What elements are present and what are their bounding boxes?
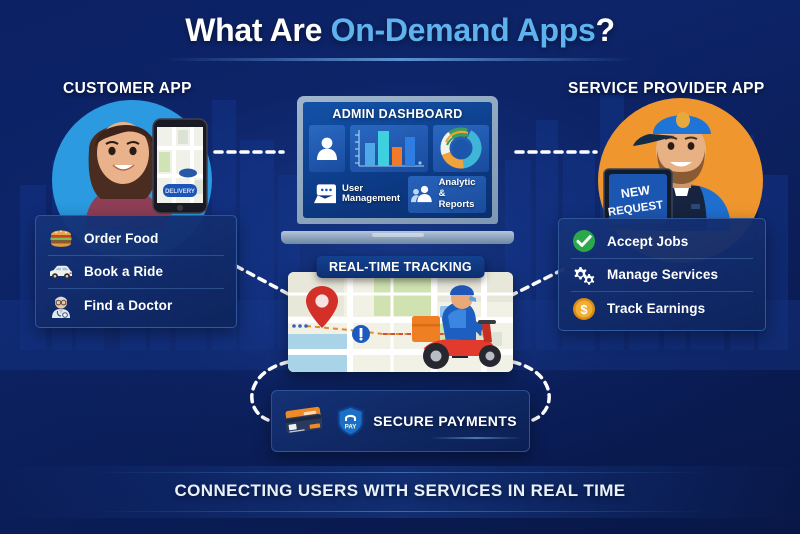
laptop-screen: ADMIN DASHBOARD [303,102,492,218]
tile-label: Analytic & Reports [439,178,483,210]
footer-tagline: CONNECTING USERS WITH SERVICES IN REAL T… [0,481,800,501]
tile-user-management[interactable]: User Management [309,176,403,213]
provider-feature-label: Accept Jobs [607,234,688,249]
tile-analytic-reports[interactable]: Analytic & Reports [408,176,486,213]
burger-icon [48,226,74,250]
admin-dashboard-laptop: ADMIN DASHBOARD [281,96,514,244]
dollar-coin-icon: $ [571,297,597,321]
provider-feature-manage-services[interactable]: Manage Services [571,259,753,293]
tile-label: User Management [342,184,400,205]
user-icon [313,134,341,162]
real-time-tracking-badge: REAL-TIME TRACKING [316,256,485,278]
customer-feature-label: Order Food [84,231,159,246]
laptop-lid: ADMIN DASHBOARD [297,96,498,224]
laptop-base [281,231,514,244]
customer-feature-book-ride[interactable]: Book a Ride [48,256,224,290]
car-icon [48,260,74,284]
provider-features-panel: Accept Jobs Manage Services [558,218,766,331]
secure-payments-label: SECURE PAYMENTS [373,413,517,429]
secure-payments-underline [430,437,522,439]
tracking-map-card[interactable] [288,272,513,372]
provider-feature-label: Manage Services [607,267,718,282]
title-part-3: ? [596,12,615,48]
real-time-tracking-module: REAL-TIME TRACKING [288,272,513,372]
provider-feature-label: Track Earnings [607,301,705,316]
customer-feature-order-food[interactable]: Order Food [48,222,224,256]
bar-chart-widget[interactable] [350,125,428,172]
donut-chart-icon [438,125,484,171]
customer-feature-label: Book a Ride [84,264,163,279]
customer-feature-find-doctor[interactable]: Find a Doctor [48,289,224,323]
footer-hairline-bottom [90,511,710,512]
shield-lock-icon: PAY [336,397,365,445]
customer-smartphone[interactable]: DELIVERY [152,118,208,214]
footer-hairline-top [90,472,710,473]
doctor-icon [48,294,74,318]
title-underline [165,58,635,61]
dashboard-tiles-row: User Management Analytic [309,176,486,213]
bar-chart-icon [350,126,428,170]
title-highlight: On-Demand Apps [331,12,596,48]
delivery-scooter-icon [406,276,510,372]
users-group-icon [411,184,434,204]
title-part-1: What Are [185,12,330,48]
dashboard-widgets-row [309,125,486,172]
chat-message-icon [312,183,338,205]
infographic-canvas: What Are On-Demand Apps? CUSTOMER APP [0,0,800,534]
secure-payments-panel[interactable]: PAY SECURE PAYMENTS [271,390,530,452]
shield-pay-text: PAY [345,424,358,431]
svg-text:DELIVERY: DELIVERY [165,189,195,195]
donut-chart-widget[interactable] [433,125,489,172]
provider-feature-accept-jobs[interactable]: Accept Jobs [571,225,753,259]
gears-icon [571,263,597,287]
page-title: What Are On-Demand Apps? [0,12,800,49]
provider-feature-track-earnings[interactable]: $ Track Earnings [571,292,753,326]
user-profile-widget[interactable] [309,125,345,172]
admin-dashboard-title: ADMIN DASHBOARD [309,107,486,121]
svg-text:$: $ [580,302,588,317]
customer-features-panel: Order Food Book a Ride [35,215,237,328]
credit-cards-icon [284,399,328,443]
check-circle-icon [571,229,597,253]
customer-feature-label: Find a Doctor [84,298,172,313]
